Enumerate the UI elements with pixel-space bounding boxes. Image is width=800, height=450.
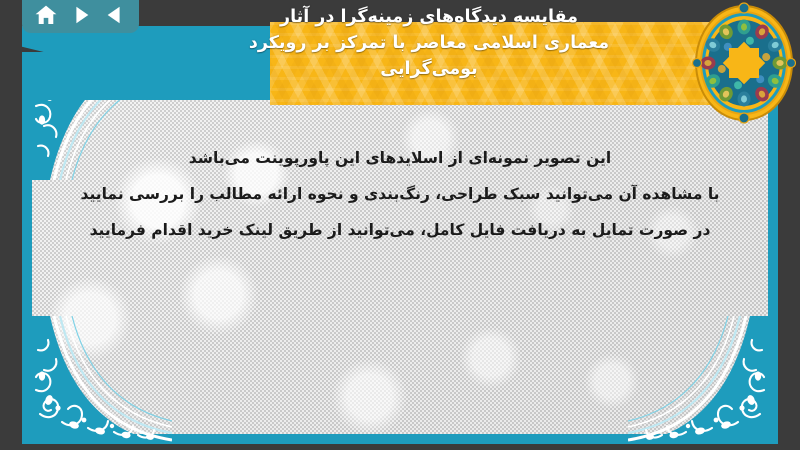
title-line-3: بومی‌گرایی xyxy=(150,56,708,82)
home-icon xyxy=(34,3,58,27)
home-button[interactable] xyxy=(33,2,59,28)
body-line-3: در صورت تمایل به دریافت فایل کامل، می‌تو… xyxy=(48,212,752,248)
triangle-right-icon xyxy=(70,4,92,26)
body-line-2: با مشاهده آن می‌توانید سبک طراحی، رنگ‌بن… xyxy=(48,176,752,212)
islamic-star-medallion-icon xyxy=(692,2,796,124)
arabesque-corner-bottom-left-icon xyxy=(22,316,172,444)
title-line-2: معماری اسلامی معاصر با تمرکز بر رویکرد xyxy=(150,30,708,56)
triangle-left-icon xyxy=(104,4,126,26)
body-line-1: این تصویر نمونه‌ای از اسلایدهای این پاور… xyxy=(48,140,752,176)
arabesque-corner-bottom-right-icon xyxy=(628,316,778,444)
title-line-1: مقایسه دیدگاه‌های زمینه‌گرا در آثار xyxy=(150,4,708,30)
slide-navigation-bar xyxy=(22,0,139,33)
slide-body-text: این تصویر نمونه‌ای از اسلایدهای این پاور… xyxy=(22,140,778,248)
next-slide-button[interactable] xyxy=(68,2,94,28)
previous-slide-button[interactable] xyxy=(102,2,128,28)
presentation-viewer: این تصویر نمونه‌ای از اسلایدهای این پاور… xyxy=(0,0,800,450)
